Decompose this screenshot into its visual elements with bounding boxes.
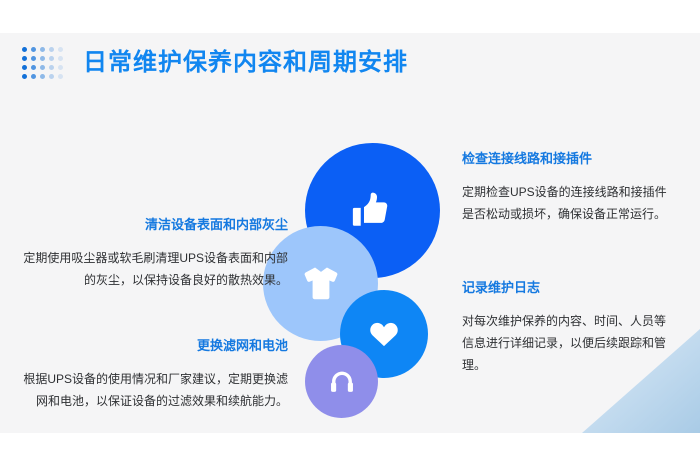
tshirt-icon: [300, 263, 342, 305]
bubble-headphones: [305, 345, 378, 418]
content-block-log: 记录维护日志 对每次维护保养的内容、时间、人员等信息进行详细记录，以便后续跟踪和…: [462, 280, 676, 376]
content-block-check: 检查连接线路和接插件 定期检查UPS设备的连接线路和接插件是否松动或损坏，确保设…: [462, 151, 676, 225]
block-heading-filter: 更换滤网和电池: [20, 338, 288, 354]
block-heading-check: 检查连接线路和接插件: [462, 151, 676, 167]
block-body-filter: 根据UPS设备的使用情况和厂家建议，定期更换滤网和电池，以保证设备的过滤效果和续…: [20, 368, 288, 412]
slide-canvas: 日常维护保养内容和周期安排: [0, 33, 700, 433]
content-block-clean: 清洁设备表面和内部灰尘 定期使用吸尘器或软毛刷清理UPS设备表面和内部的灰尘，以…: [20, 217, 288, 291]
content-block-filter: 更换滤网和电池 根据UPS设备的使用情况和厂家建议，定期更换滤网和电池，以保证设…: [20, 338, 288, 412]
block-heading-log: 记录维护日志: [462, 280, 676, 296]
slide-header: 日常维护保养内容和周期安排: [22, 45, 408, 81]
dot-grid-icon: [22, 47, 65, 81]
thumbs-up-icon: [350, 188, 396, 234]
block-body-clean: 定期使用吸尘器或软毛刷清理UPS设备表面和内部的灰尘，以保持设备良好的散热效果。: [20, 247, 288, 291]
page-title: 日常维护保养内容和周期安排: [83, 51, 408, 75]
block-body-log: 对每次维护保养的内容、时间、人员等信息进行详细记录，以便后续跟踪和管理。: [462, 310, 676, 377]
headphones-icon: [328, 368, 356, 396]
heart-icon: [367, 317, 401, 351]
block-body-check: 定期检查UPS设备的连接线路和接插件是否松动或损坏，确保设备正常运行。: [462, 181, 676, 225]
slide-root: 日常维护保养内容和周期安排: [0, 0, 700, 466]
block-heading-clean: 清洁设备表面和内部灰尘: [20, 217, 288, 233]
